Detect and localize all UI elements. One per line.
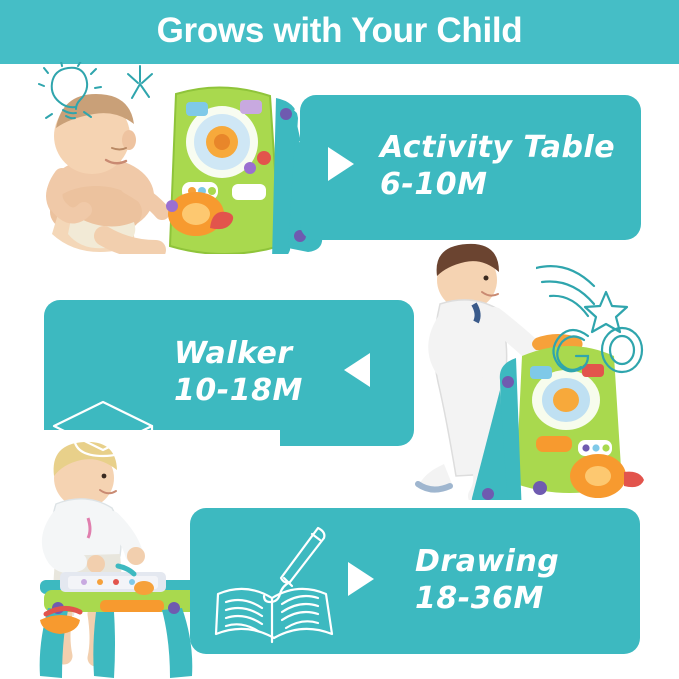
triangle-right-icon — [348, 562, 374, 596]
go-lettering-icon — [536, 262, 672, 382]
stage-panel-activity-table[interactable]: Activity Table 6-10M — [300, 95, 641, 240]
stage-label-walker: Walker 10-18M — [174, 336, 303, 409]
open-book-and-brush-icon — [212, 520, 337, 645]
product-infographic: Grows with Your Child — [0, 0, 679, 679]
stage-label-activity-table: Activity Table 6-10M — [380, 130, 615, 203]
lightbulb-icon — [38, 62, 110, 128]
stage-label-drawing: Drawing 18-36M — [415, 544, 559, 617]
page-title: Grows with Your Child — [0, 0, 679, 64]
sparkle-icon — [118, 62, 162, 102]
triangle-right-icon — [328, 147, 354, 181]
triangle-left-icon — [344, 353, 370, 387]
stage-panel-drawing[interactable]: Drawing 18-36M — [190, 508, 640, 654]
thought-cloud-icon — [140, 452, 222, 514]
